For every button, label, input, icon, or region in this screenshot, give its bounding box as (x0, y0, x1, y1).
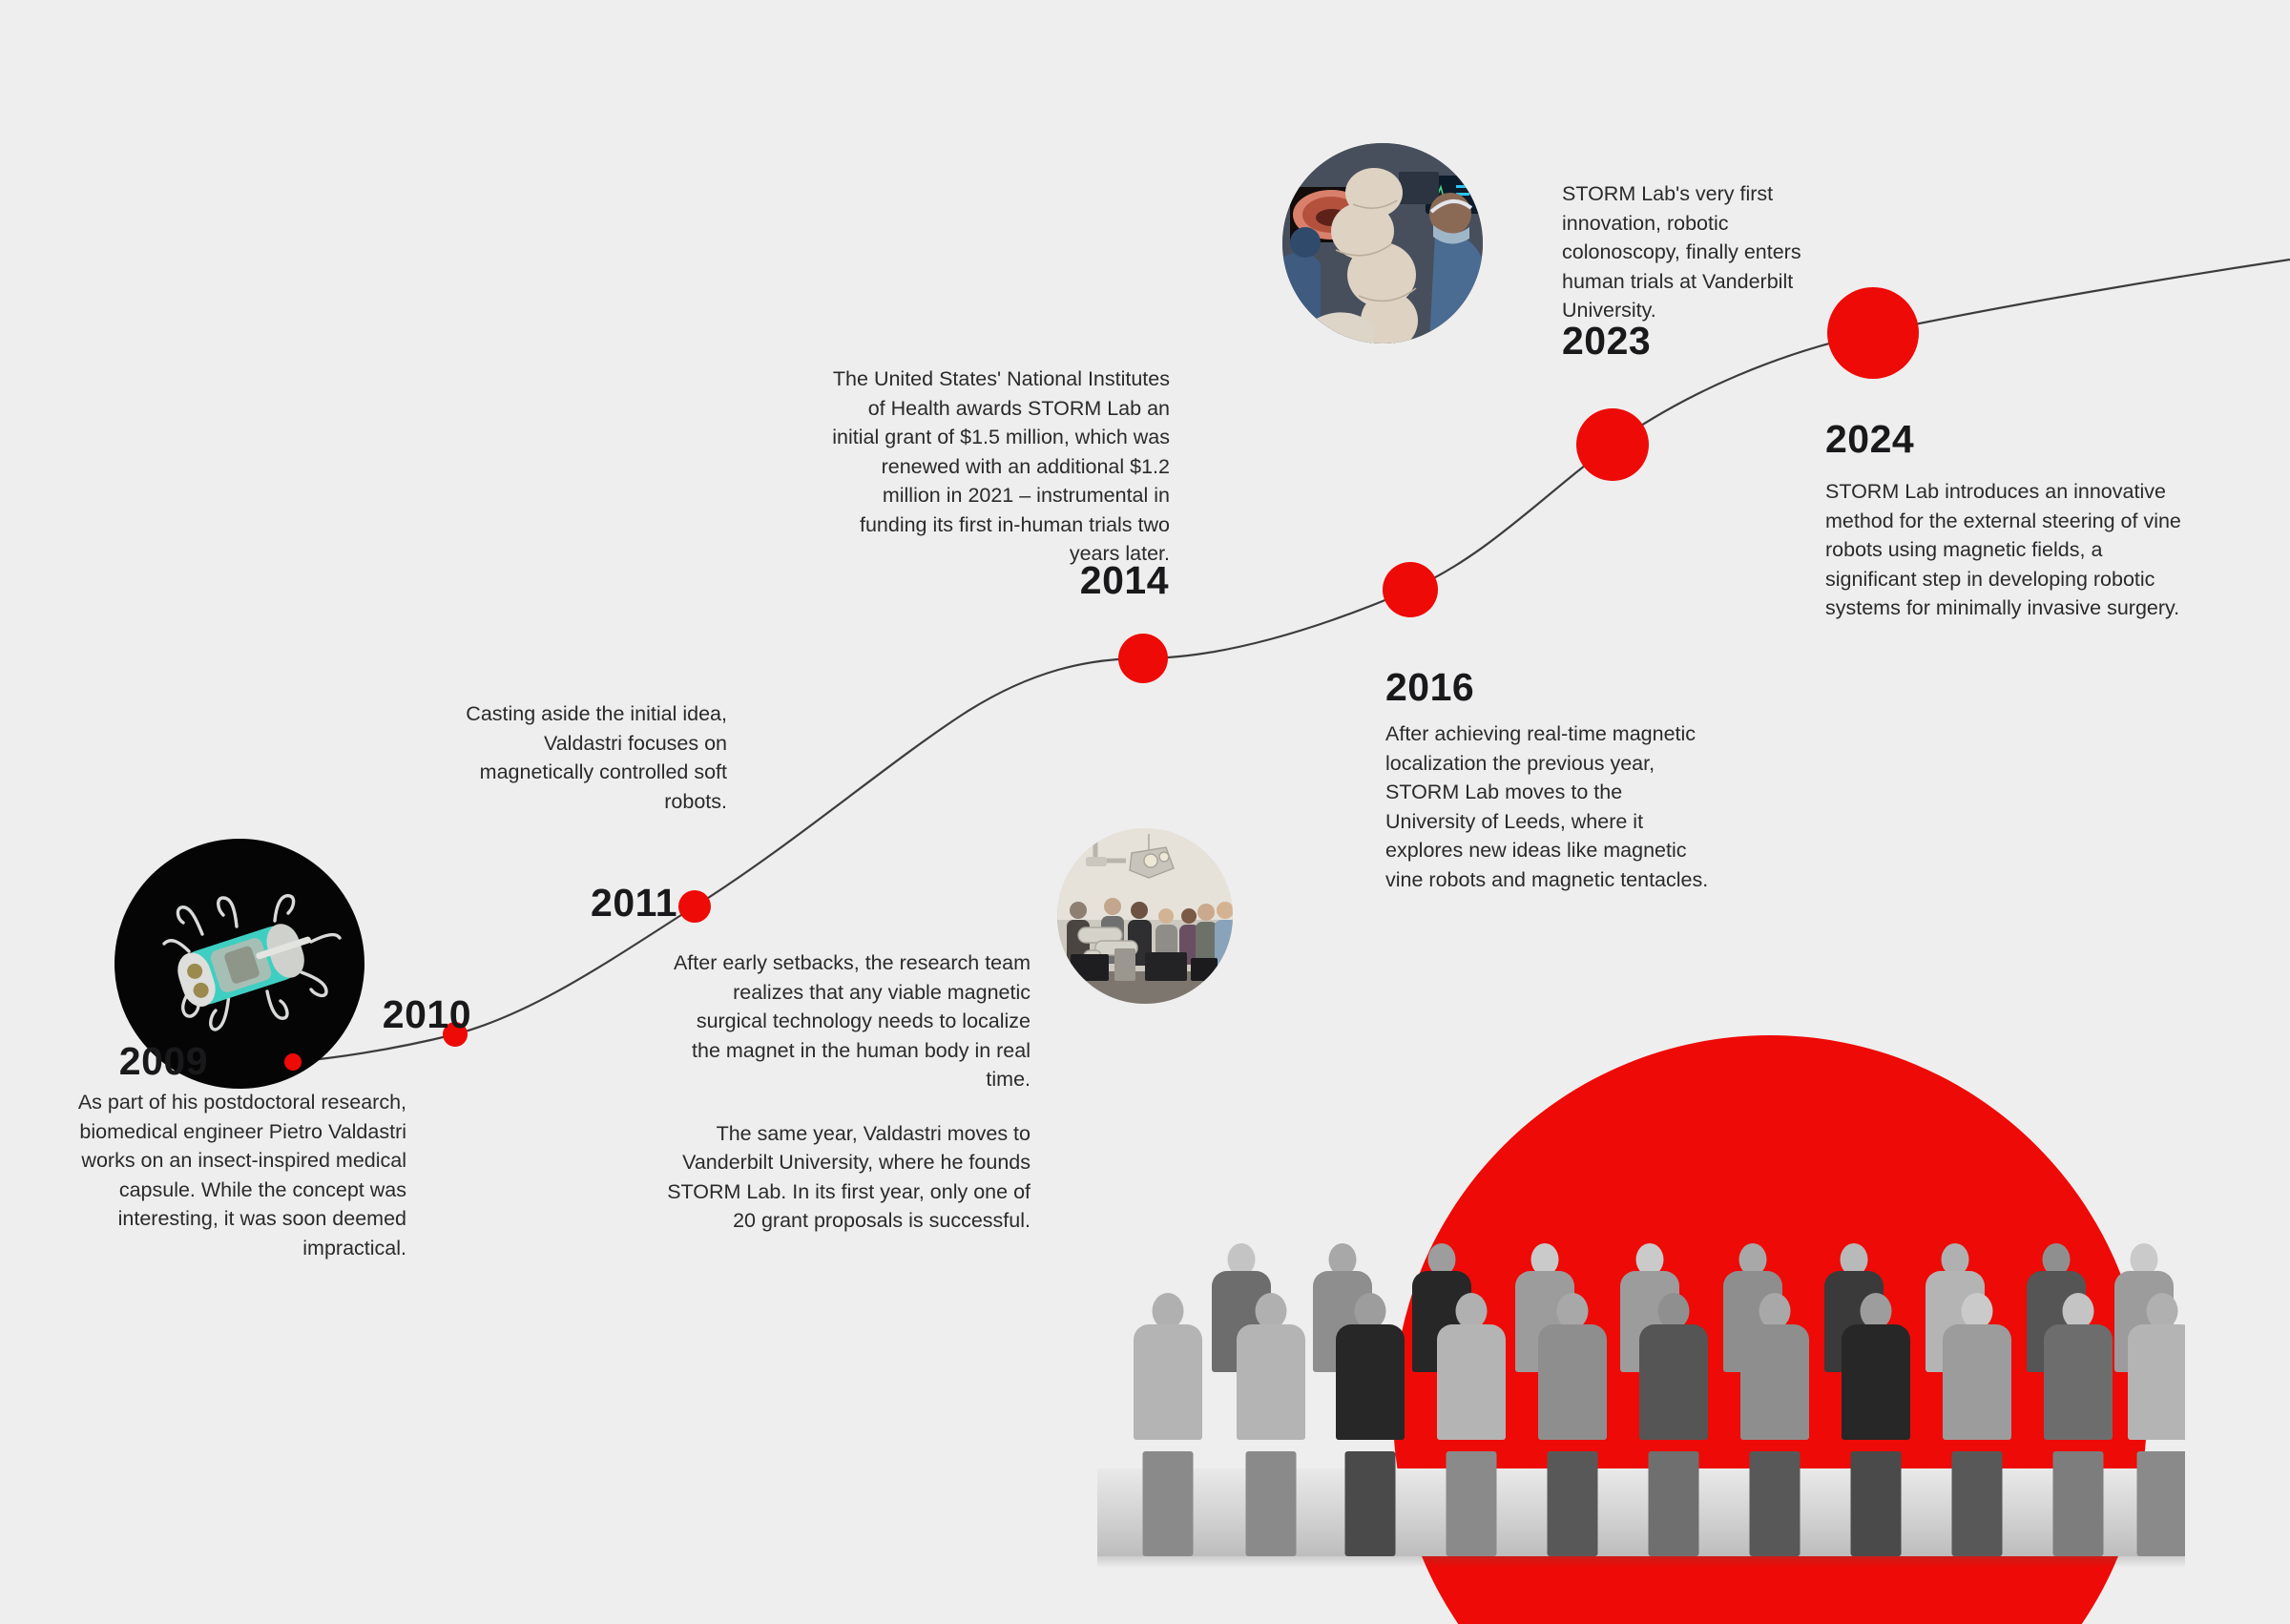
person-legs (2137, 1451, 2186, 1556)
group-photo-person (1237, 1293, 1305, 1556)
person-torso (1740, 1324, 1809, 1440)
person-torso (1842, 1324, 1910, 1440)
milestone-paragraph-2: The same year, Valdastri moves to Vander… (666, 1119, 1030, 1236)
person-torso (1943, 1324, 2011, 1440)
person-torso (1538, 1324, 1607, 1440)
robotic-colonoscopy-trial-photo (1282, 143, 1483, 344)
milestone-paragraph: As part of his postdoctoral research, bi… (74, 1088, 406, 1262)
person-legs (1952, 1451, 2003, 1556)
group-photo-person (1740, 1293, 1809, 1556)
person-torso (1639, 1324, 1708, 1440)
milestone-paragraph: After early setbacks, the research team … (666, 948, 1030, 1094)
group-photo-person (1639, 1293, 1708, 1556)
vanderbilt-lab-team-photo (1057, 828, 1233, 1004)
timeline-node-2011[interactable] (678, 890, 711, 923)
person-legs (1851, 1451, 1902, 1556)
milestone-text-2011: After early setbacks, the research team … (666, 948, 1030, 1236)
person-torso (2128, 1324, 2185, 1440)
milestone-paragraph: After achieving real-time magnetic local… (1385, 719, 1710, 894)
milestone-paragraph: STORM Lab's very first innovation, robot… (1562, 179, 1818, 325)
person-legs (1143, 1451, 1194, 1556)
year-label-2024: 2024 (1825, 420, 1968, 459)
group-photo-person (1538, 1293, 1607, 1556)
year-label-2011: 2011 (553, 884, 677, 923)
milestone-text-2010: Casting aside the initial idea, Valdastr… (452, 699, 727, 816)
person-legs (1750, 1451, 1801, 1556)
timeline-node-2024[interactable] (1827, 287, 1919, 379)
group-photo-person (1943, 1293, 2011, 1556)
person-legs (2053, 1451, 2104, 1556)
person-torso (1237, 1324, 1305, 1440)
person-legs (1345, 1451, 1396, 1556)
milestone-paragraph: The United States' National Institutes o… (830, 364, 1170, 569)
milestone-text-2023: STORM Lab's very first innovation, robot… (1562, 179, 1818, 325)
person-torso (1134, 1324, 1202, 1440)
timeline-node-2014[interactable] (1118, 634, 1168, 683)
milestone-text-2014: The United States' National Institutes o… (830, 364, 1170, 569)
year-label-2016: 2016 (1385, 668, 1529, 707)
person-legs (1246, 1451, 1297, 1556)
milestone-text-2009: As part of his postdoctoral research, bi… (74, 1088, 406, 1262)
person-torso (1437, 1324, 1506, 1440)
milestone-text-2024: STORM Lab introduces an innovative metho… (1825, 477, 2194, 623)
milestone-paragraph: Casting aside the initial idea, Valdastr… (452, 699, 727, 816)
storm-lab-group-photo (1097, 1159, 2185, 1589)
group-photo-person (1336, 1293, 1405, 1556)
year-label-2009: 2009 (84, 1042, 208, 1081)
timeline-node-2009[interactable] (284, 1053, 302, 1071)
person-torso (2044, 1324, 2113, 1440)
group-photo-person (2128, 1293, 2185, 1556)
person-legs (1447, 1451, 1497, 1556)
group-photo-person (1134, 1293, 1202, 1556)
milestone-paragraph: STORM Lab introduces an innovative metho… (1825, 477, 2194, 623)
year-label-2023: 2023 (1562, 322, 1705, 361)
group-photo-person (2044, 1293, 2113, 1556)
timeline-node-2016[interactable] (1383, 562, 1438, 617)
milestone-text-2016: After achieving real-time magnetic local… (1385, 719, 1710, 894)
person-legs (1548, 1451, 1598, 1556)
year-label-2010: 2010 (347, 995, 471, 1034)
person-torso (1336, 1324, 1405, 1440)
group-photo-person (1842, 1293, 1910, 1556)
timeline-node-2023[interactable] (1576, 408, 1649, 481)
group-photo-person (1437, 1293, 1506, 1556)
infographic-canvas: 2009 2010 2011 2014 2016 2023 2024 As pa… (0, 0, 2290, 1624)
person-legs (1649, 1451, 1699, 1556)
